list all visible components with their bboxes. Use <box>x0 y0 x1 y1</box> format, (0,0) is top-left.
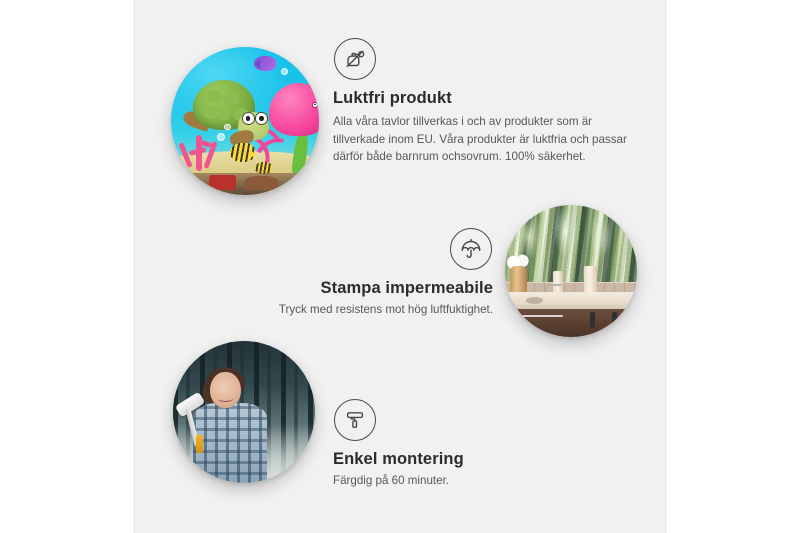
yellow-striped-fish-icon <box>230 143 255 162</box>
screenshot-stage: Luktfri produkt Alla våra tavlor tillver… <box>0 0 800 533</box>
feature-description: Alla våra tavlor tillverkas i och av pro… <box>333 113 638 166</box>
face <box>210 372 241 408</box>
umbrella-icon <box>450 228 492 270</box>
bubble-icon <box>281 68 288 75</box>
octopus-eye <box>312 102 319 108</box>
feature-easy-installation: Enkel montering Färgdig på 60 minuter. <box>333 399 633 490</box>
marble-countertop <box>505 292 637 310</box>
feature-description: Tryck med resistens mot hög luftfuktighe… <box>193 301 493 319</box>
purple-fish-icon <box>254 56 276 71</box>
smile <box>218 395 232 402</box>
underwater-scene <box>171 47 319 195</box>
turtle-eye <box>242 112 255 125</box>
coral-cluster <box>177 121 227 171</box>
no-fragrance-icon <box>334 38 376 80</box>
turtle-eye <box>255 112 268 125</box>
bubble-icon <box>224 124 230 130</box>
plaid-shirt-torso <box>193 403 267 483</box>
paint-roller-grip <box>196 435 203 453</box>
feature-title: Stampa impermeabile <box>193 279 493 298</box>
feature-odourless-product: Luktfri produkt Alla våra tavlor tillver… <box>333 38 638 166</box>
forest-portrait-scene <box>173 341 315 483</box>
wooden-vanity-cabinet <box>513 309 637 337</box>
bathroom-scene <box>505 205 637 337</box>
feature-panel: Luktfri produkt Alla våra tavlor tillver… <box>133 0 667 533</box>
feature-description: Färgdig på 60 minuter. <box>333 472 633 490</box>
feature-title: Luktfri produkt <box>333 89 638 108</box>
sea-floor-foreground <box>171 173 319 195</box>
feature-title: Enkel montering <box>333 450 633 469</box>
feature-waterproof-print: Stampa impermeabile Tryck med resistens … <box>193 228 493 319</box>
bubble-icon <box>217 133 225 141</box>
bathroom-botanical-wallpaper-medallion[interactable] <box>505 205 637 337</box>
soap-dispenser <box>584 266 597 295</box>
underwater-cartoon-medallion[interactable] <box>171 47 319 195</box>
woman-paint-roller-forest-medallion[interactable] <box>173 341 315 483</box>
paint-roller-icon <box>334 399 376 441</box>
